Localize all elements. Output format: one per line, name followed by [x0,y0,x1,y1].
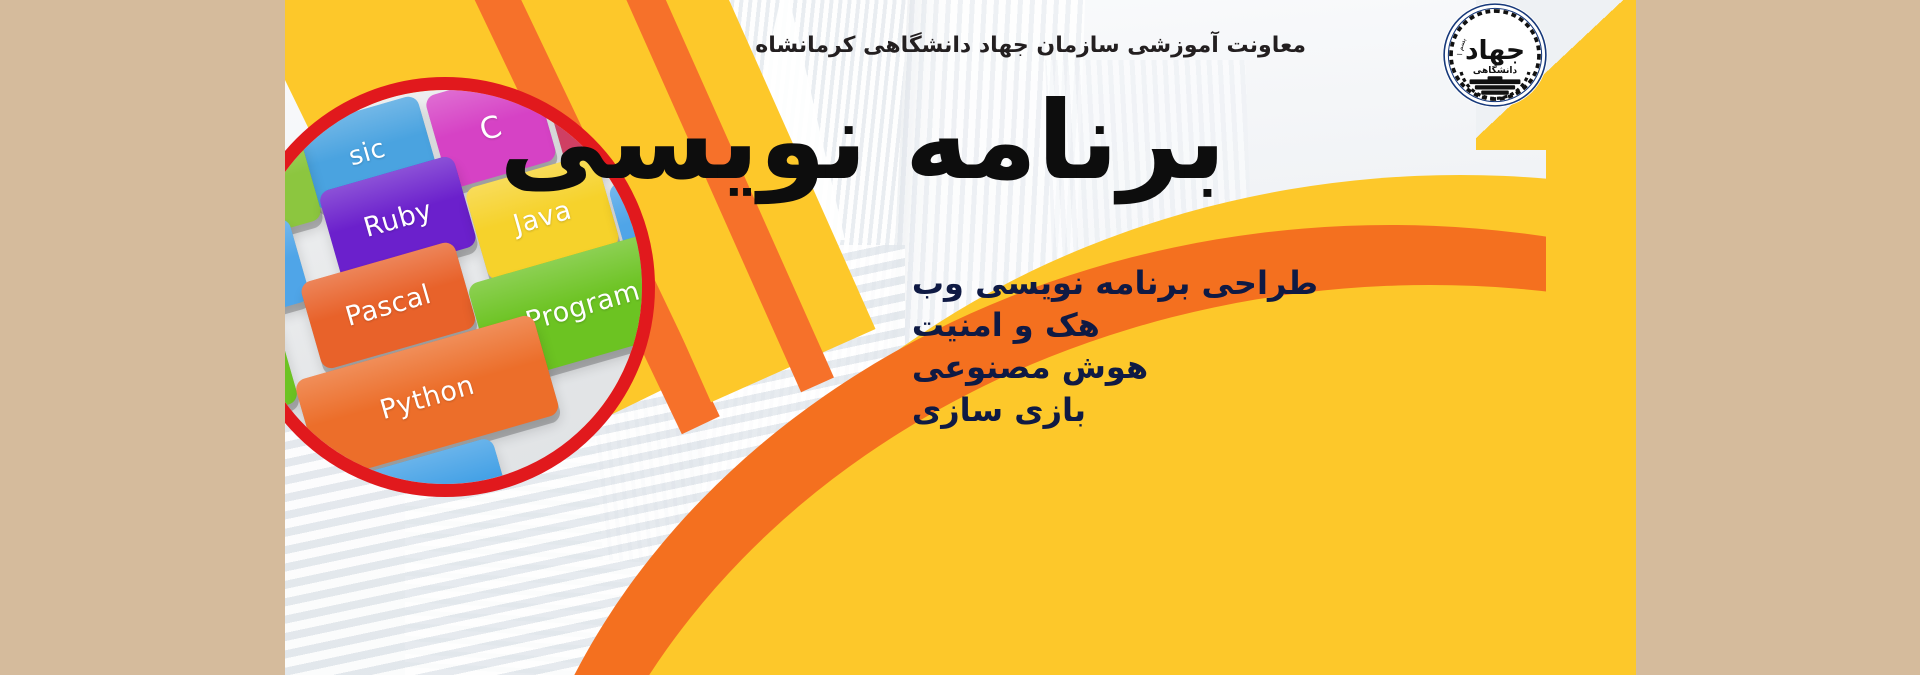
key-label: Pascal [342,278,435,332]
list-item: هوش مصنوعی [912,346,1318,388]
poster-page: sic C Perl Ruby Java [0,0,1920,675]
list-item: طراحی برنامه نویسی وب [912,262,1318,304]
svg-text:دانشگاهی: دانشگاهی [1473,64,1518,76]
key-plus-3: + [285,313,299,428]
jahad-daneshgahi-logo: بسم الله الرحمن الرحیم جهاد دانشگاهی [1442,2,1548,108]
key-label: sic [345,133,388,172]
organization-line: معاونت آموزشی سازمان جهاد دانشگاهی کرمان… [755,33,1306,58]
left-side-rail [0,0,285,675]
key-label: PL-SQL [362,483,464,484]
key-label: Program [522,275,642,337]
list-item: هک و امنیت [912,304,1318,346]
key-label: Ruby [360,194,436,243]
page-title: برنامه نویسی [499,88,1226,196]
right-side-rail [1636,0,1920,675]
key-label: Python [376,369,477,425]
list-item: بازی سازی [912,389,1318,431]
svg-text:جهاد: جهاد [1465,35,1525,66]
banner-canvas: sic C Perl Ruby Java [285,0,1636,675]
course-list: طراحی برنامه نویسی وب هک و امنیت هوش مصن… [912,262,1318,431]
